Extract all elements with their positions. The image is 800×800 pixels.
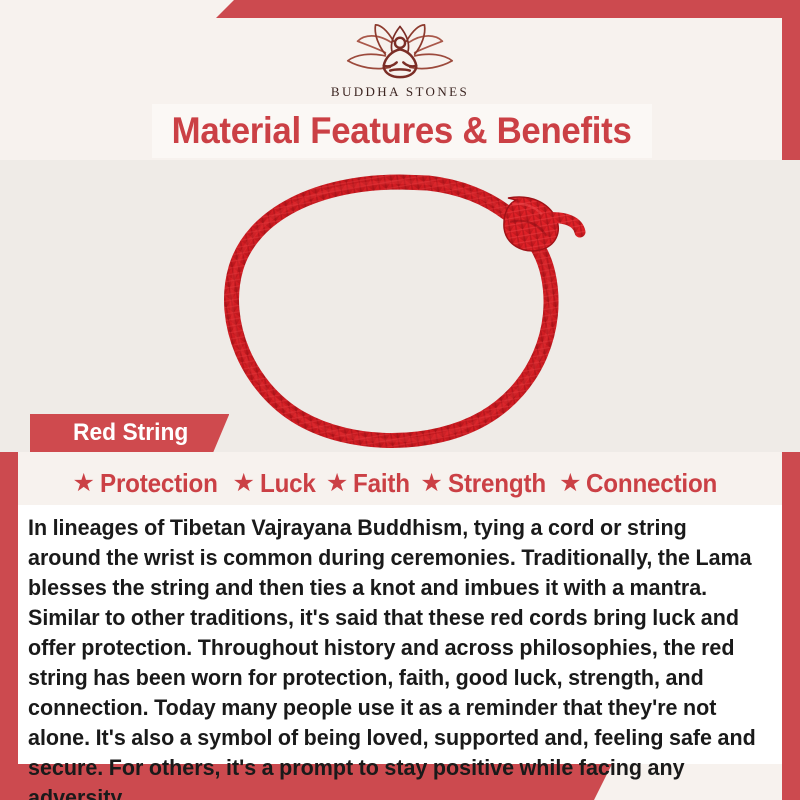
lotus-meditation-icon: [334, 20, 466, 82]
description-panel: In lineages of Tibetan Vajrayana Buddhis…: [18, 505, 782, 764]
star-icon: ★: [559, 471, 581, 496]
product-photo: [0, 160, 800, 452]
benefit-item: ★ Protection: [73, 468, 227, 499]
star-icon: ★: [420, 471, 442, 496]
benefit-item: ★ Luck: [233, 468, 320, 499]
benefit-item: ★ Strength: [420, 468, 553, 499]
star-icon: ★: [233, 471, 255, 496]
benefit-label-connection: Connection: [586, 468, 717, 499]
benefit-item: ★ Faith: [326, 468, 415, 499]
product-label: Red String: [73, 419, 188, 447]
star-icon: ★: [326, 471, 348, 496]
infographic-poster: BUDDHA STONES Material Features & Benefi…: [0, 0, 800, 800]
description-text: In lineages of Tibetan Vajrayana Buddhis…: [28, 513, 763, 800]
benefit-label-protection: Protection: [100, 468, 218, 499]
star-icon: ★: [73, 471, 95, 496]
brand-header: BUDDHA STONES: [0, 18, 800, 104]
benefit-label-strength: Strength: [448, 468, 546, 499]
product-label-ribbon: Red String: [30, 414, 229, 452]
benefit-label-luck: Luck: [260, 468, 316, 499]
decorative-top-band: [0, 0, 800, 18]
benefit-label-faith: Faith: [353, 468, 410, 499]
benefit-item: ★ Connection: [559, 468, 727, 499]
decorative-right-band-lower: [782, 430, 800, 800]
title-banner: Material Features & Benefits: [152, 104, 652, 158]
page-title: Material Features & Benefits: [172, 110, 632, 152]
red-braided-string-bracelet-icon: [0, 160, 800, 452]
brand-name: BUDDHA STONES: [331, 84, 469, 100]
benefits-row: ★ Protection ★ Luck ★ Faith ★ Strength ★…: [18, 463, 782, 503]
